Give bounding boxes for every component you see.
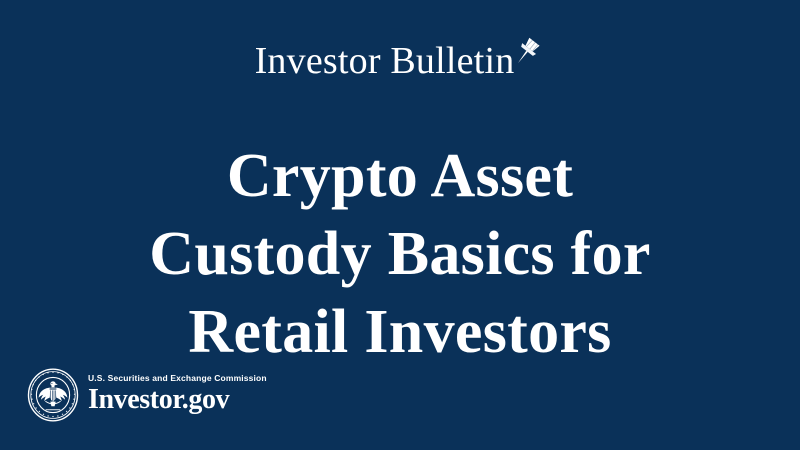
sec-eagle-seal-icon [27, 368, 79, 422]
page-title: Crypto Asset Custody Basics for Retail I… [0, 137, 800, 371]
pushpin-icon [511, 36, 545, 70]
headline-line-1: Crypto Asset [0, 137, 800, 215]
agency-name: U.S. Securities and Exchange Commission [88, 373, 267, 384]
eyebrow: Investor Bulletin [0, 38, 800, 84]
investor-bulletin-slide: Investor Bulletin Crypto Asset Custody B… [0, 0, 800, 450]
headline-line-2: Custody Basics for [0, 215, 800, 293]
investor-gov-wordmark: Investor.gov [88, 385, 267, 415]
eyebrow-label: Investor Bulletin [255, 38, 515, 84]
investor-gov-logo-lockup: U.S. Securities and Exchange Commission … [27, 368, 267, 422]
logo-text-block: U.S. Securities and Exchange Commission … [88, 373, 267, 417]
headline-line-3: Retail Investors [0, 293, 800, 371]
